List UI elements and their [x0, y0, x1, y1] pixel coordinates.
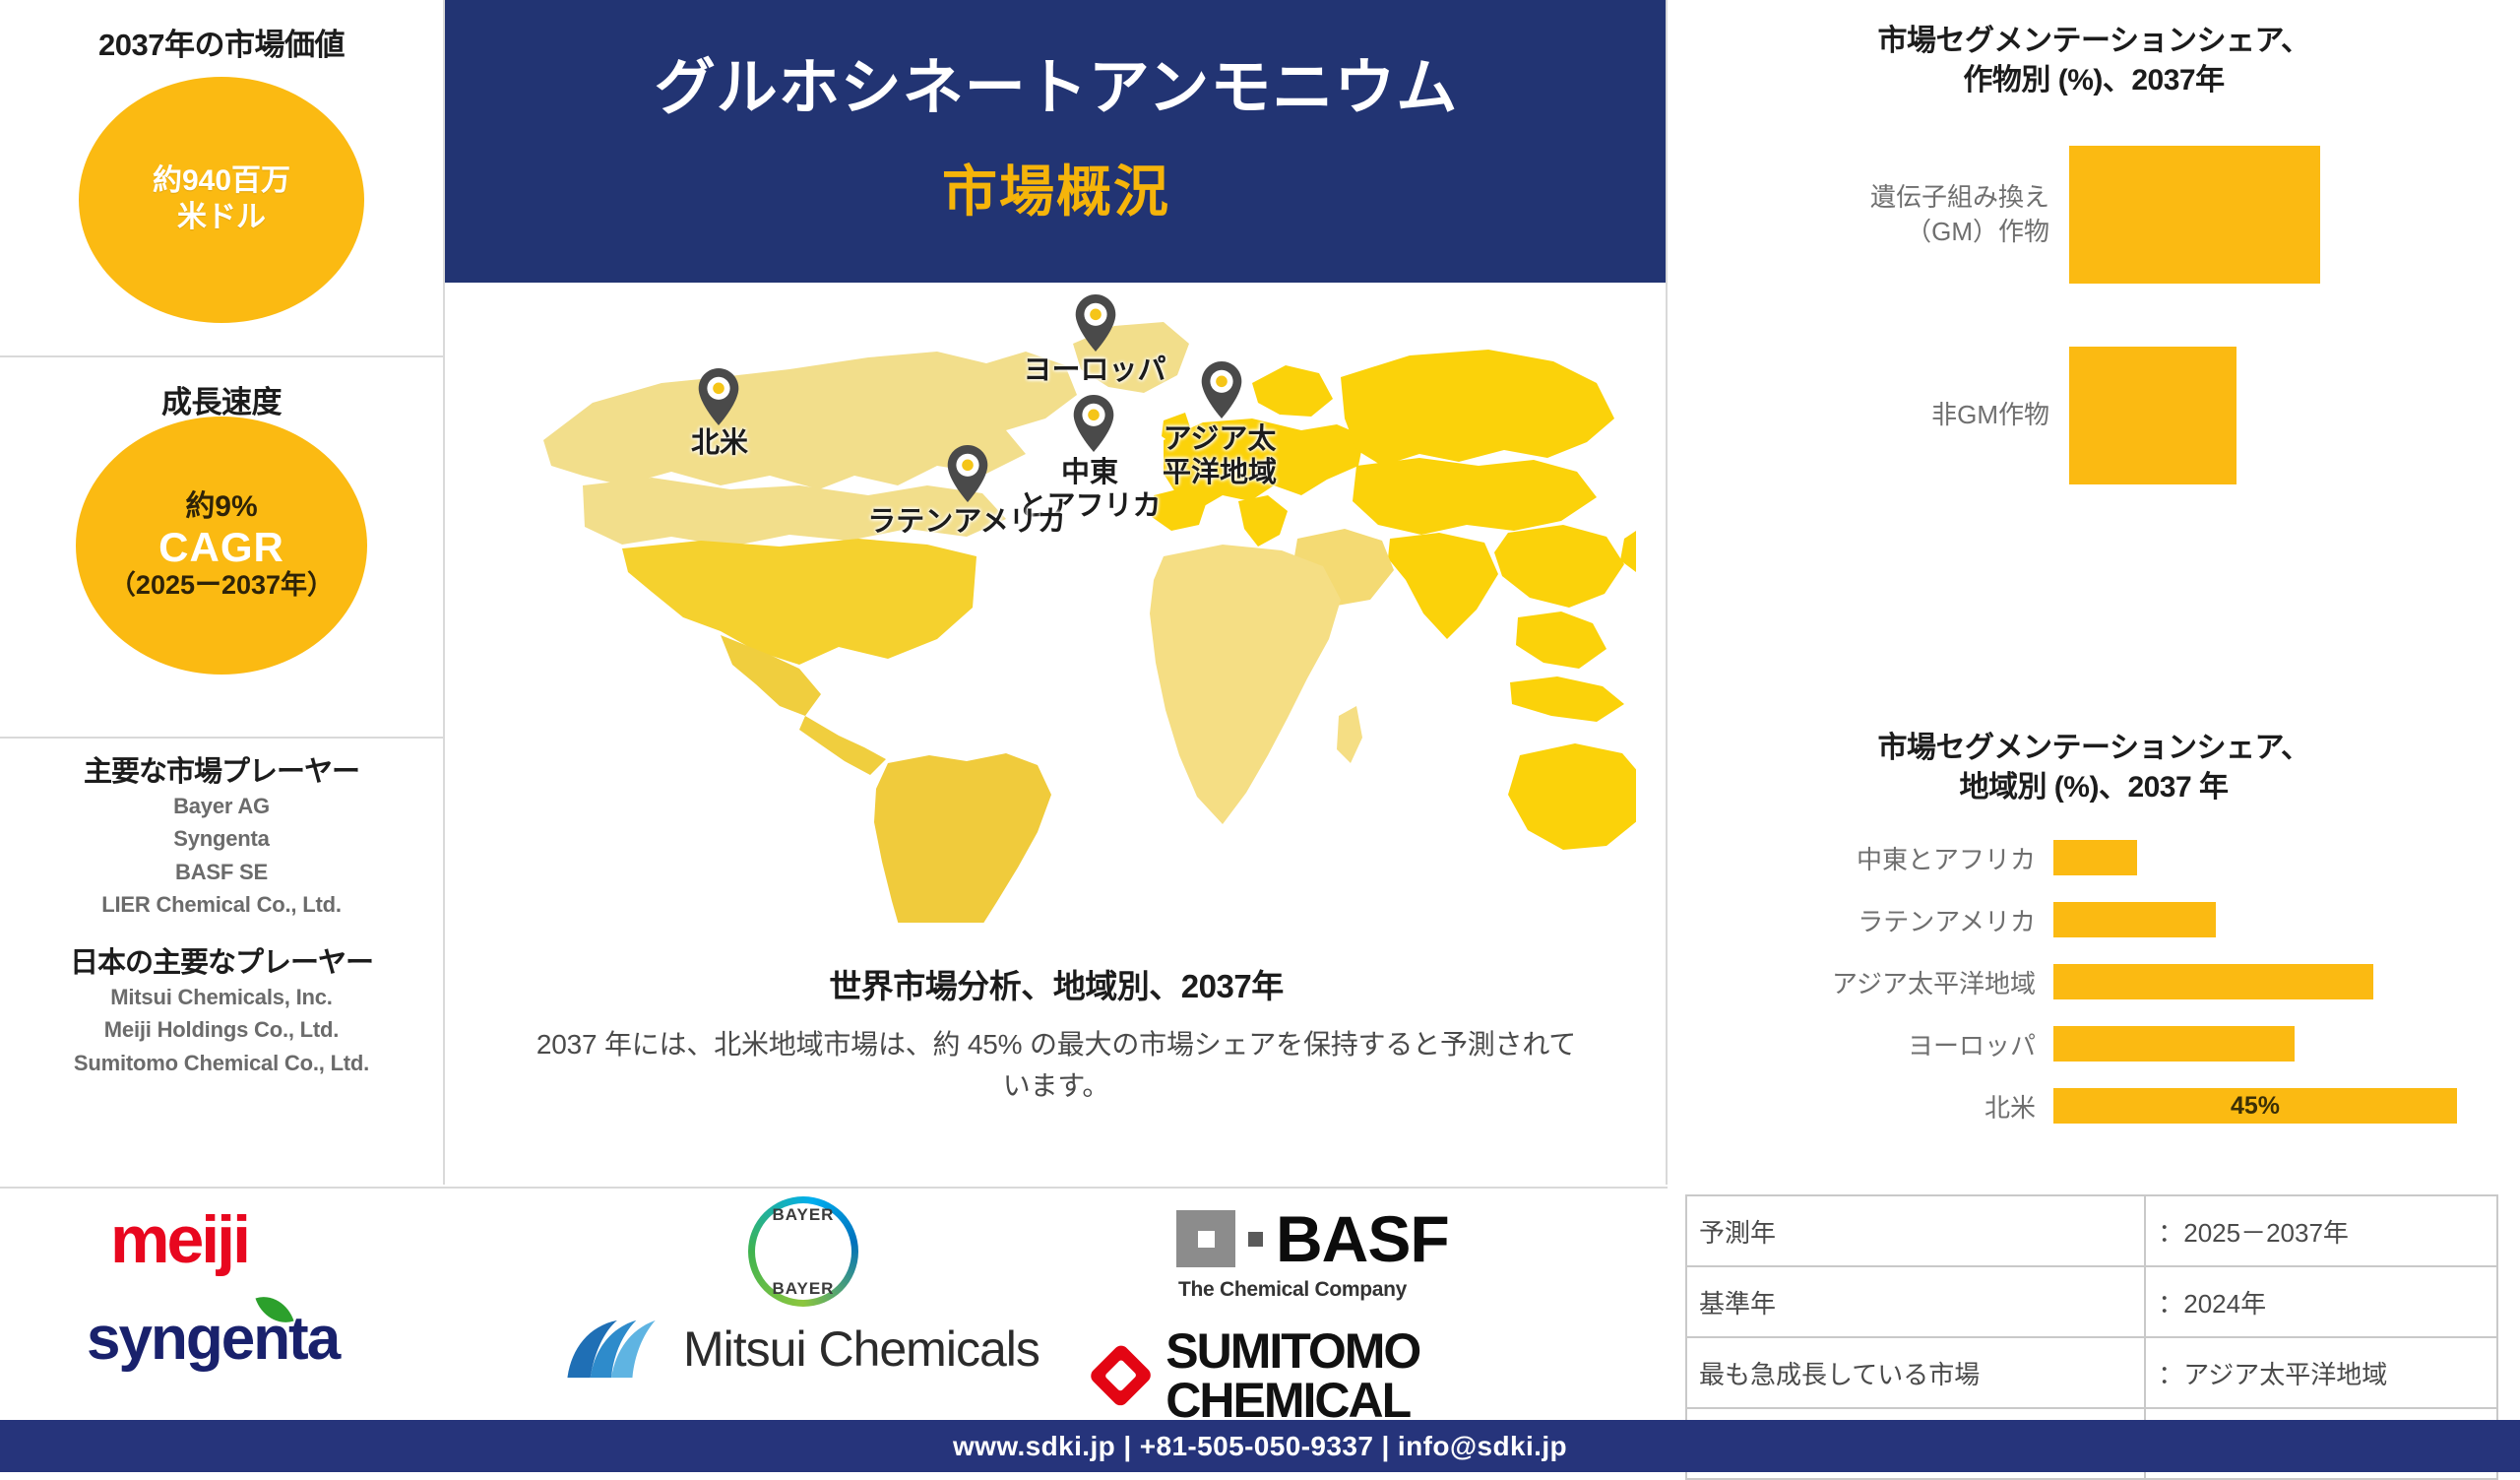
map-region-scandinavia — [1252, 365, 1333, 417]
logo-basf-tagline: The Chemical Company — [1178, 1278, 1407, 1302]
map-label-mea-line1: 中東 — [1061, 457, 1118, 488]
logo-mitsui-text: Mitsui Chemicals — [683, 1324, 1039, 1374]
logo-basf: BASF The Chemical Company — [1176, 1208, 1449, 1302]
table-row: 最も急成長している市場 ：アジア太平洋地域 — [1686, 1337, 2497, 1408]
growth-rate-period: （2025ー2037年） — [109, 569, 334, 602]
world-map: 北米 ヨーロッパ アジア太 平洋地域 中東 とアフリカ ラテンア — [445, 283, 1668, 942]
region-chart-row: ヨーロッパ — [1668, 1013, 2520, 1074]
japan-player-item: Meiji Holdings Co., Ltd. — [0, 1013, 443, 1046]
region-chart-row: 北米 45% — [1668, 1075, 2520, 1136]
right-charts-column: 市場セグメンテーションシェア、 作物別 (%)、2037年 遺伝子組み換え （G… — [1668, 0, 2520, 1185]
map-label-europe: ヨーロッパ — [981, 354, 1208, 387]
basf-dot-icon — [1248, 1232, 1263, 1247]
logo-sumitomo-chemical: SUMITOMO CHEMICAL — [1098, 1326, 1668, 1425]
map-pin-latin-america[interactable] — [947, 445, 988, 502]
market-value-line1: 約940百万 — [153, 163, 290, 200]
footer-contact-text[interactable]: www.sdki.jp | +81-505-050-9337 | info@sd… — [953, 1431, 1567, 1462]
japan-player-item: Mitsui Chemicals, Inc. — [0, 981, 443, 1013]
infographic-page: 2037年の市場価値 約940百万 米ドル 成長速度 約9% CAGR （202… — [0, 0, 2520, 1472]
logo-meiji: meiji — [110, 1206, 248, 1273]
map-pin-europe[interactable] — [1075, 294, 1116, 352]
key-player-item: LIER Chemical Co., Ltd. — [0, 888, 443, 921]
region-chart-title-line2: 地域別 (%)、2037 年 — [1959, 771, 2228, 804]
mitsui-wave-icon — [561, 1317, 667, 1382]
region-chart-bar-na: 45% — [2053, 1088, 2457, 1124]
map-region-east-asia — [1494, 525, 1624, 608]
region-chart-title: 市場セグメンテーションシェア、 地域別 (%)、2037 年 — [1697, 729, 2490, 806]
table-key: 予測年 — [1686, 1195, 2145, 1266]
map-label-asia-pacific-line1: アジア太 — [1164, 423, 1277, 455]
logo-bayer-text-top: BAYER — [773, 1206, 835, 1223]
region-chart-bar-apac — [2053, 964, 2373, 999]
map-region-usa — [622, 539, 976, 665]
map-region-southeast-asia — [1516, 611, 1606, 669]
market-value-line2: 米ドル — [177, 200, 266, 236]
map-region-south-asia — [1388, 533, 1498, 639]
market-value-title: 2037年の市場価値 — [0, 0, 443, 64]
region-chart-row: ラテンアメリカ — [1668, 889, 2520, 950]
growth-rate-card: 成長速度 約9% CAGR （2025ー2037年） — [0, 357, 443, 739]
logo-sumitomo-text: SUMITOMO CHEMICAL — [1165, 1326, 1668, 1425]
region-chart-bar-mea — [2053, 840, 2137, 875]
basf-square-icon — [1176, 1210, 1235, 1267]
map-caption-title: 世界市場分析、地域別、2037年 — [445, 960, 1668, 1007]
key-player-item: BASF SE — [0, 856, 443, 888]
key-player-item: Bayer AG — [0, 790, 443, 822]
logo-syngenta: syngenta — [87, 1309, 339, 1370]
map-pin-north-america[interactable] — [698, 368, 739, 425]
left-stats-column: 2037年の市場価値 約940百万 米ドル 成長速度 約9% CAGR （202… — [0, 0, 445, 1185]
growth-rate-bubble: 約9% CAGR （2025ー2037年） — [76, 417, 367, 675]
japan-players-title: 日本の主要なプレーヤー — [0, 939, 443, 981]
table-value: ：2024年 — [2145, 1266, 2497, 1337]
logo-basf-text: BASF — [1276, 1208, 1449, 1270]
region-segmentation-chart: 中東とアフリカ ラテンアメリカ アジア太平洋地域 ヨーロッパ 北米 45% — [1668, 827, 2520, 1172]
map-pin-asia-pacific[interactable] — [1201, 361, 1242, 418]
region-chart-label-apac: アジア太平洋地域 — [1668, 964, 2053, 1000]
region-chart-title-line1: 市場セグメンテーションシェア、 — [1878, 732, 2310, 764]
page-title: グルホシネートアンモニウム — [655, 55, 1459, 122]
map-region-central-asia — [1353, 458, 1597, 535]
growth-rate-metric: CAGR — [158, 526, 284, 569]
bayer-cross-icon: BAYER BAYER — [748, 1196, 858, 1307]
logo-mitsui-chemicals: Mitsui Chemicals — [561, 1317, 1039, 1382]
table-row: 基準年 ：2024年 — [1686, 1266, 2497, 1337]
market-value-card: 2037年の市場価値 約940百万 米ドル — [0, 0, 443, 357]
table-row: 予測年 ：2025－2037年 — [1686, 1195, 2497, 1266]
crop-chart-row-nongm: 非GM作物 — [1734, 347, 2236, 484]
growth-rate-value: 約9% — [185, 489, 257, 526]
region-chart-row: 中東とアフリカ — [1668, 827, 2520, 888]
partner-logos-band: meiji syngenta BAYER BAYER BASF The Ch — [0, 1187, 1668, 1415]
logo-meiji-text: meiji — [110, 1206, 248, 1273]
region-chart-label-europe: ヨーロッパ — [1668, 1026, 2053, 1062]
region-chart-bar-europe — [2053, 1026, 2295, 1062]
map-label-north-america: 北米 — [665, 426, 774, 460]
map-caption-body: 2037 年には、北米地域市場は、約 45% の最大の市場シェアを保持すると予測… — [524, 1024, 1589, 1107]
map-region-russia — [1341, 350, 1614, 466]
title-banner: グルホシネートアンモニウム 市場概況 — [445, 0, 1668, 283]
table-value: ：アジア太平洋地域 — [2145, 1337, 2497, 1408]
crop-segmentation-chart: 遺伝子組み換え （GM）作物 非GM作物 — [1668, 0, 2520, 689]
key-player-item: Syngenta — [0, 822, 443, 855]
table-key: 最も急成長している市場 — [1686, 1337, 2145, 1408]
map-region-central-america — [799, 716, 886, 775]
map-region-madagascar — [1337, 706, 1362, 763]
key-players-title: 主要な市場プレーヤー — [0, 748, 443, 790]
logo-syngenta-text: syngenta — [87, 1309, 339, 1370]
table-value: ：2025－2037年 — [2145, 1195, 2497, 1266]
region-chart-bar-latam — [2053, 902, 2216, 937]
region-chart-row: アジア太平洋地域 — [1668, 951, 2520, 1012]
table-key: 基準年 — [1686, 1266, 2145, 1337]
map-region-south-america — [874, 753, 1051, 923]
region-chart-label-na: 北米 — [1668, 1088, 2053, 1125]
footer-bar: www.sdki.jp | +81-505-050-9337 | info@sd… — [0, 1420, 2520, 1472]
growth-rate-title: 成長速度 — [0, 357, 443, 421]
map-label-latin-america: ラテンアメリカ — [829, 505, 1104, 539]
crop-chart-label-gm: 遺伝子組み換え （GM）作物 — [1734, 180, 2069, 249]
logo-bayer-text-bottom: BAYER — [773, 1280, 835, 1297]
crop-chart-row-gm: 遺伝子組み換え （GM）作物 — [1734, 146, 2320, 284]
center-map-column: グルホシネートアンモニウム 市場概況 — [445, 0, 1668, 1185]
crop-chart-label-nongm: 非GM作物 — [1734, 398, 2069, 432]
map-region-africa — [1150, 545, 1341, 824]
map-pin-middle-east-africa[interactable] — [1073, 395, 1114, 452]
region-chart-label-latam: ラテンアメリカ — [1668, 902, 2053, 938]
map-region-indonesia — [1510, 676, 1624, 722]
logo-bayer: BAYER BAYER — [748, 1196, 858, 1307]
players-card: 主要な市場プレーヤー Bayer AG Syngenta BASF SE LIE… — [0, 748, 443, 1194]
map-region-australia — [1508, 743, 1636, 850]
japan-player-item: Sumitomo Chemical Co., Ltd. — [0, 1047, 443, 1079]
sumitomo-diamond-icon — [1088, 1342, 1154, 1408]
crop-chart-bar-gm — [2069, 146, 2320, 284]
market-value-bubble: 約940百万 米ドル — [79, 77, 364, 323]
map-region-italy-balkans — [1238, 495, 1288, 547]
region-chart-value-na: 45% — [2231, 1092, 2280, 1121]
region-chart-label-mea: 中東とアフリカ — [1668, 840, 2053, 876]
page-subtitle: 市場概況 — [942, 148, 1170, 227]
crop-chart-bar-nongm — [2069, 347, 2236, 484]
